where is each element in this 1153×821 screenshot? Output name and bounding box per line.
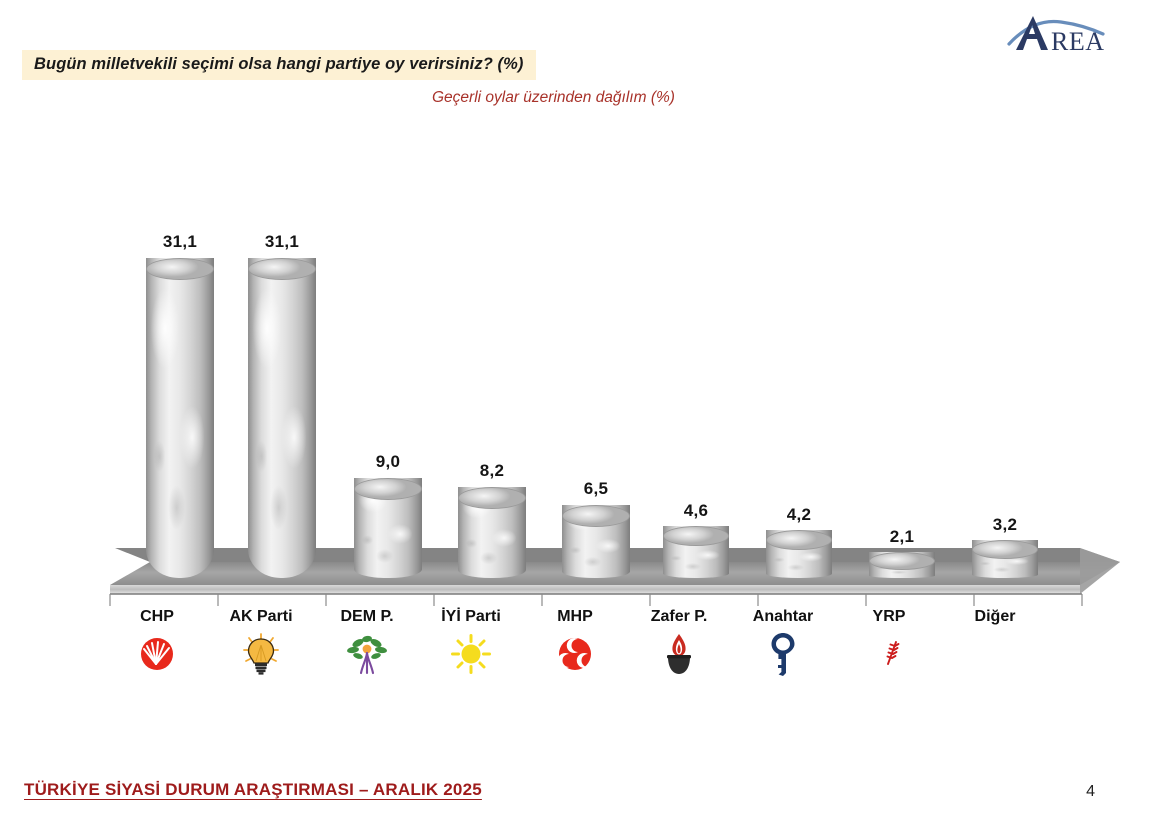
category-diger: Diğer <box>948 608 1042 677</box>
diger-no-icon <box>948 631 1042 677</box>
category-dem-p: DEM P. <box>320 608 414 677</box>
bar-dem-p: 9,0 <box>354 478 422 578</box>
iyiparti-sun-icon <box>424 631 518 677</box>
bar-top-ellipse <box>869 552 935 570</box>
footer-title: TÜRKİYE SİYASİ DURUM ARAŞTIRMASI – ARALI… <box>24 780 482 800</box>
bar-chart: 31,1 31,1 9,0 8,2 6,5 4,6 <box>0 0 1153 760</box>
category-anahtar: Anahtar <box>734 608 832 677</box>
bar-mhp: 6,5 <box>562 505 630 578</box>
zafer-torch-icon <box>630 631 728 677</box>
bar-value-label-iyi-parti: 8,2 <box>458 461 526 481</box>
bar-top-ellipse <box>972 540 1038 559</box>
bar-body <box>248 258 316 578</box>
mhp-three-crescents-icon <box>528 631 622 677</box>
bar-value-label-mhp: 6,5 <box>562 479 630 499</box>
bar-value-label-yrp: 2,1 <box>869 527 935 547</box>
bar-chp: 31,1 <box>146 258 214 578</box>
category-ak-parti: AK Parti <box>214 608 308 677</box>
bar-top-ellipse <box>663 526 729 546</box>
category-label: AK Parti <box>214 608 308 626</box>
bar-value-label-dem-p: 9,0 <box>354 452 422 472</box>
category-mhp: MHP <box>528 608 622 677</box>
chp-six-arrows-icon <box>110 631 204 677</box>
category-chp: CHP <box>110 608 204 677</box>
bar-value-label-diger: 3,2 <box>972 515 1038 535</box>
category-label: İYİ Parti <box>424 608 518 626</box>
bar-value-label-ak-parti: 31,1 <box>248 232 316 252</box>
bar-top-ellipse <box>458 487 526 509</box>
chart-plot-area: 31,1 31,1 9,0 8,2 6,5 4,6 <box>0 0 1153 700</box>
bar-top-ellipse <box>354 478 422 500</box>
category-label: Zafer P. <box>630 608 728 626</box>
category-label: CHP <box>110 608 204 626</box>
category-iyi-parti: İYİ Parti <box>424 608 518 677</box>
bar-top-ellipse <box>766 530 832 550</box>
bar-iyi-parti: 8,2 <box>458 487 526 578</box>
dem-tree-icon <box>320 631 414 677</box>
bar-top-ellipse <box>146 258 214 280</box>
category-label: Diğer <box>948 608 1042 626</box>
bar-ak-parti: 31,1 <box>248 258 316 578</box>
bar-yrp: 2,1 <box>869 552 935 578</box>
page-number: 4 <box>1086 783 1095 801</box>
bar-top-ellipse <box>562 505 630 527</box>
anahtar-key-icon <box>734 631 832 677</box>
category-yrp: YRP <box>842 608 936 677</box>
category-label: YRP <box>842 608 936 626</box>
bar-value-label-zafer-p: 4,6 <box>663 501 729 521</box>
category-label: DEM P. <box>320 608 414 626</box>
bar-diger: 3,2 <box>972 540 1038 578</box>
category-zafer-p: Zafer P. <box>630 608 728 677</box>
category-label: MHP <box>528 608 622 626</box>
akparti-lightbulb-icon <box>214 631 308 677</box>
bar-anahtar: 4,2 <box>766 530 832 578</box>
yrp-crescent-wheat-icon <box>842 631 936 677</box>
category-label: Anahtar <box>734 608 832 626</box>
bar-value-label-anahtar: 4,2 <box>766 505 832 525</box>
bar-zafer-p: 4,6 <box>663 526 729 578</box>
bar-top-ellipse <box>248 258 316 280</box>
bar-body <box>146 258 214 578</box>
bar-value-label-chp: 31,1 <box>146 232 214 252</box>
